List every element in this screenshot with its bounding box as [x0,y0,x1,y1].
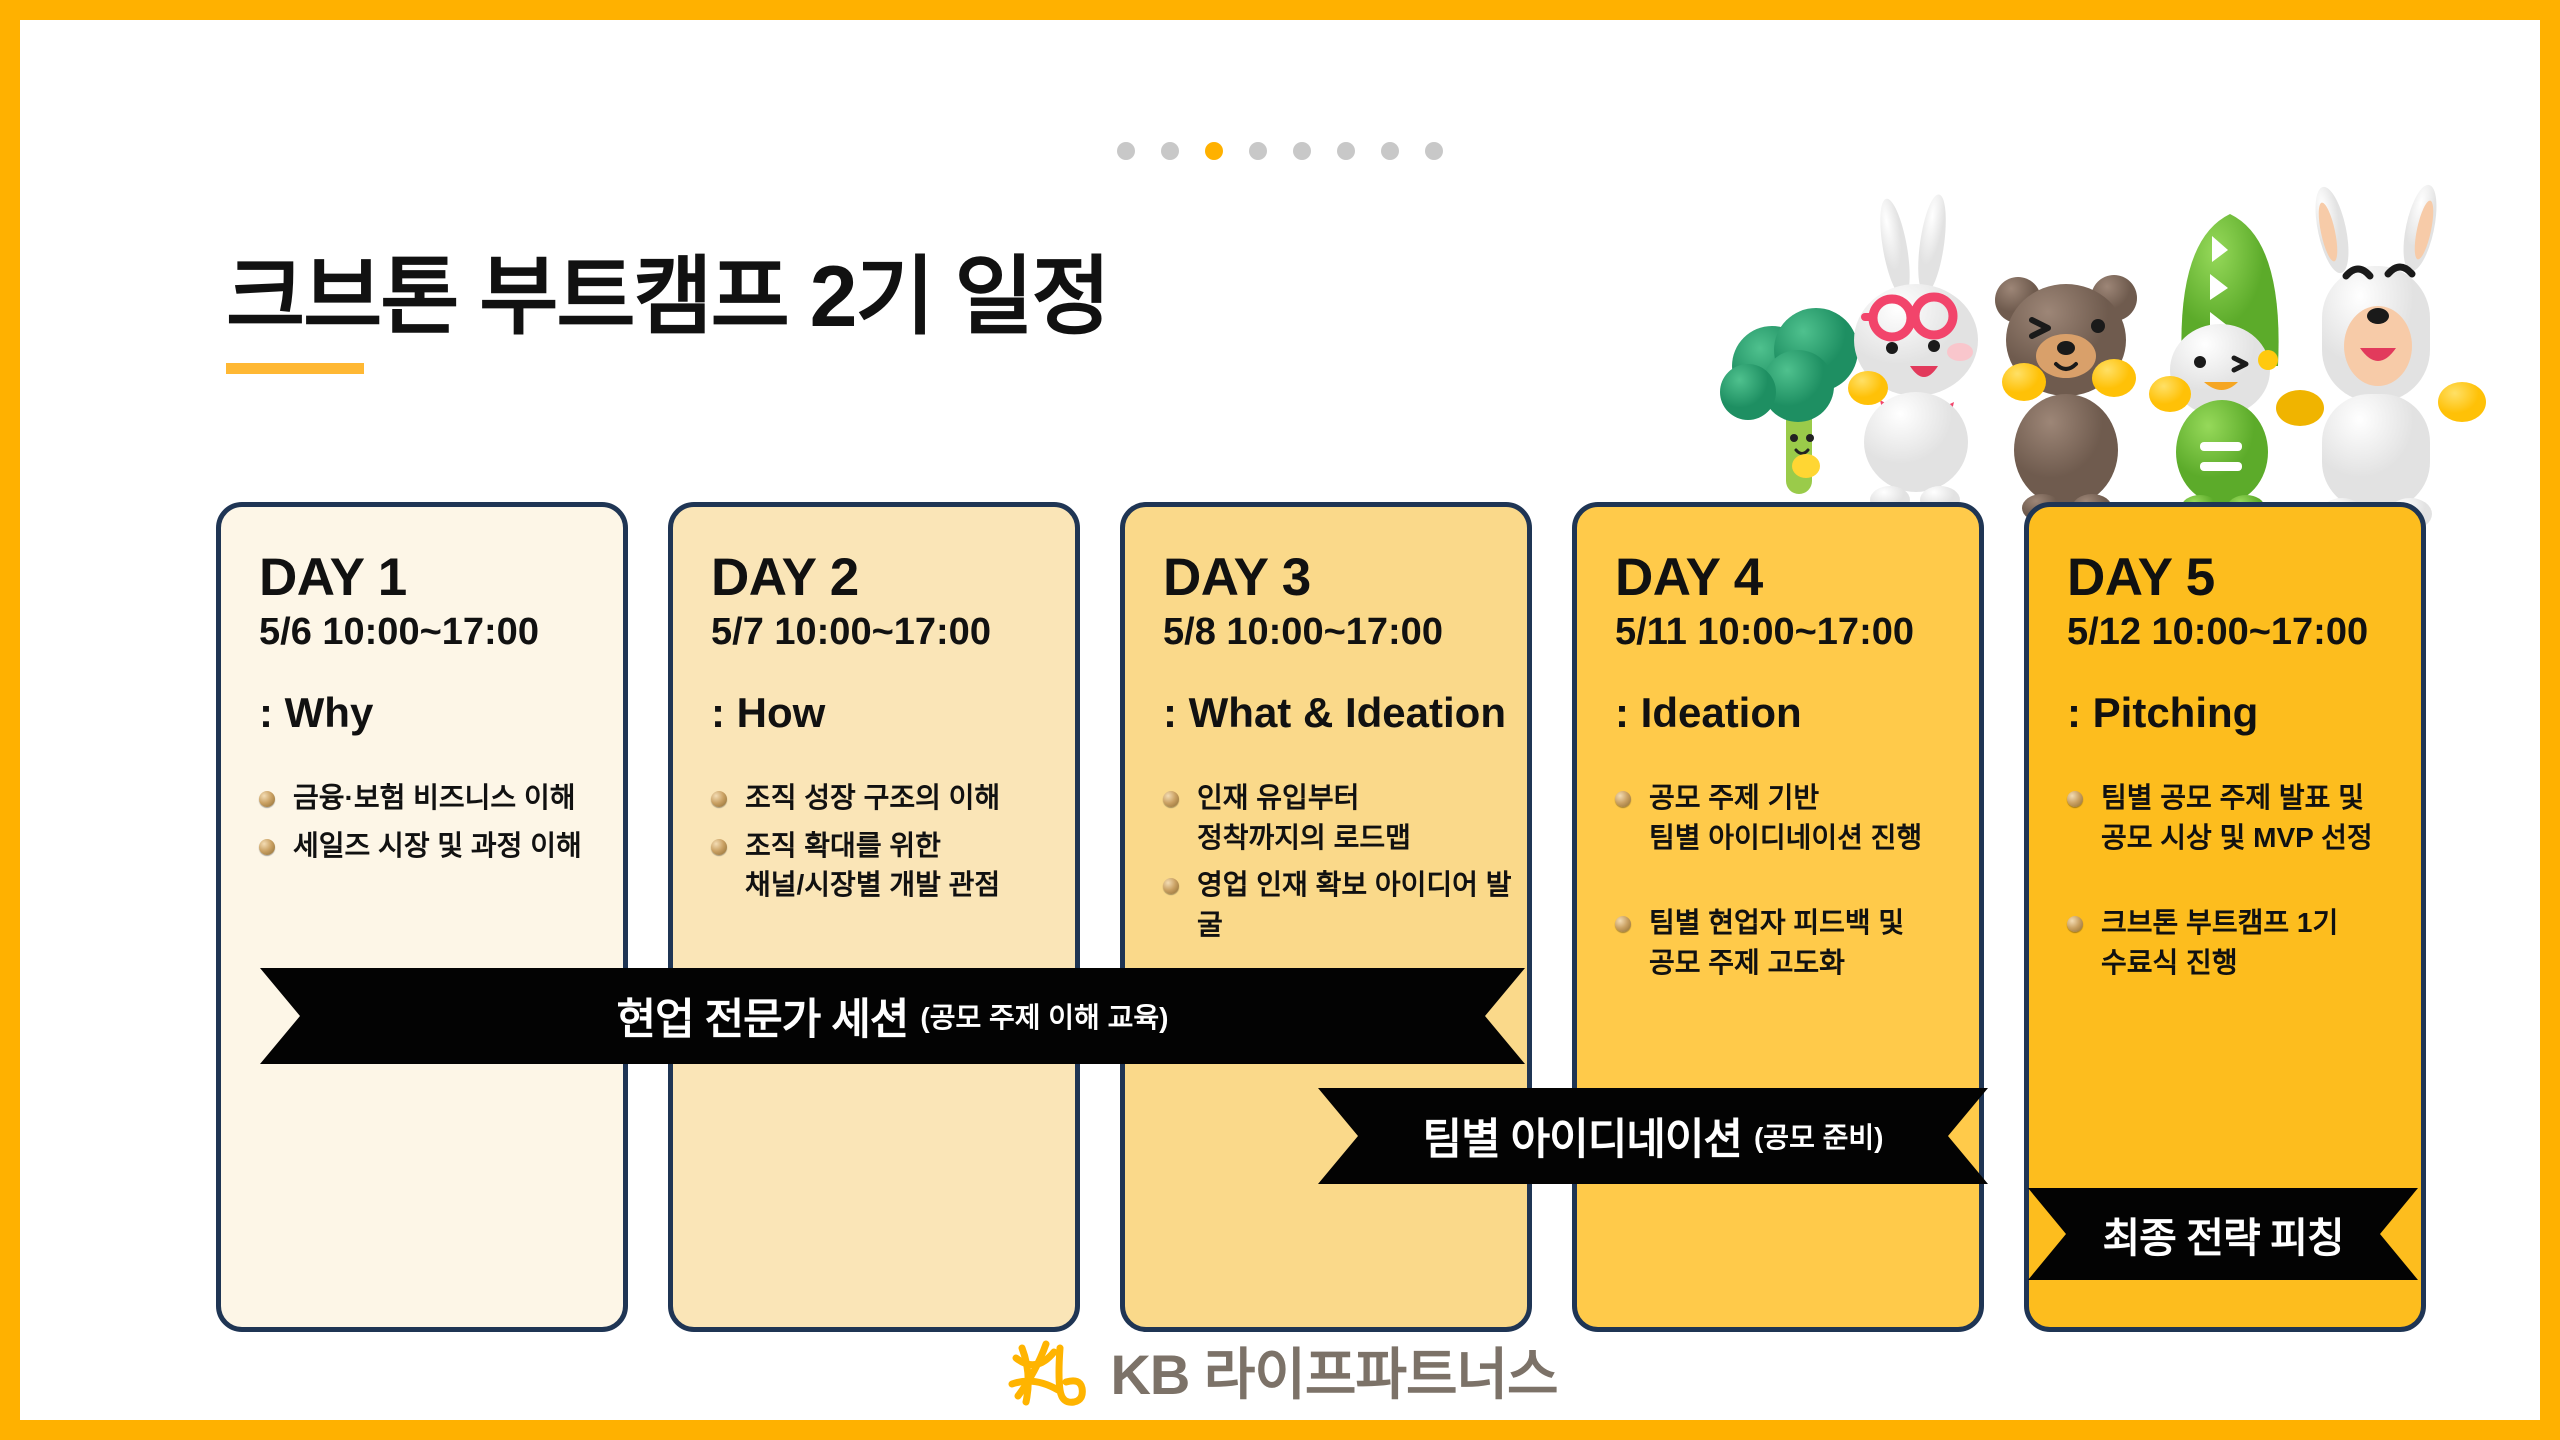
pagination-dot-1[interactable] [1117,142,1135,160]
list-item: 영업 인재 확보 아이디어 발굴 [1163,865,1527,945]
day-card-5-time: 5/12 10:00~17:00 [2067,612,2421,654]
day-card-5-bullets: 팀별 공모 주제 발표 및 공모 시상 및 MVP 선정 크브톤 부트캠프 1기… [2067,778,2421,983]
kb-wordmark: KB 라이프파트너스 [1110,1347,1557,1403]
list-item: 세일즈 시장 및 과정 이해 [259,826,623,866]
day-card-3-topic: : What & Ideation [1163,690,1527,736]
list-item: 크브톤 부트캠프 1기 수료식 진행 [2067,903,2421,983]
ribbon-banner-final-pitching: 최종 전략 피칭 [2028,1188,2418,1280]
kb-star-icon [1002,1338,1088,1412]
day-card-3[interactable]: DAY 3 5/8 10:00~17:00 : What & Ideation … [1120,502,1532,1332]
mascot-illustration [1720,170,2540,530]
pagination-dot-8[interactable] [1425,142,1443,160]
day-card-3-time: 5/8 10:00~17:00 [1163,612,1527,654]
day-card-5-day: DAY 5 [2067,551,2421,604]
ribbon-2-sub: (공모 준비) [1754,1116,1883,1156]
day-card-2-day: DAY 2 [711,551,1075,604]
day-card-3-bullets: 인재 유입부터 정착까지의 로드맵 영업 인재 확보 아이디어 발굴 [1163,778,1527,945]
title-block: 크브톤 부트캠프 2기 일정 [226,250,1109,374]
ribbon-banner-team-ideation: 팀별 아이디네이션 (공모 준비) [1318,1088,1988,1184]
day-card-2[interactable]: DAY 2 5/7 10:00~17:00 : How 조직 성장 구조의 이해… [668,502,1080,1332]
pagination-dot-2[interactable] [1161,142,1179,160]
slide-inner: 크브톤 부트캠프 2기 일정 [20,20,2540,1420]
pagination-dot-3-active[interactable] [1205,142,1223,160]
ribbon-banner-expert-session: 현업 전문가 세션 (공모 주제 이해 교육) [260,968,1525,1064]
slide-frame: 크브톤 부트캠프 2기 일정 [0,0,2560,1440]
list-item: 조직 확대를 위한 채널/시장별 개발 관점 [711,826,1075,906]
list-item: 조직 성장 구조의 이해 [711,778,1075,818]
bear-character [1995,275,2137,522]
ribbon-1-sub: (공모 주제 이해 교육) [920,996,1168,1036]
page-title: 크브톤 부트캠프 2기 일정 [226,250,1109,345]
day-card-1-time: 5/6 10:00~17:00 [259,612,623,654]
ribbon-2-main: 팀별 아이디네이션 [1423,1105,1742,1167]
broccoli-tree-character [1720,308,1858,494]
llama-character [2276,182,2486,530]
list-item: 금융·보험 비즈니스 이해 [259,778,623,818]
dino-character [2149,214,2279,521]
day-card-4-bullets: 공모 주제 기반 팀별 아이디네이션 진행 팀별 현업자 피드백 및 공모 주제… [1615,778,1979,983]
pagination-dot-7[interactable] [1381,142,1399,160]
day-card-5-topic: : Pitching [2067,690,2421,736]
pagination-dot-6[interactable] [1337,142,1355,160]
ribbon-3-main: 최종 전략 피칭 [2102,1204,2343,1264]
day-card-1[interactable]: DAY 1 5/6 10:00~17:00 : Why 금융·보험 비즈니스 이… [216,502,628,1332]
list-item: 팀별 공모 주제 발표 및 공모 시상 및 MVP 선정 [2067,778,2421,858]
pagination-dot-4[interactable] [1249,142,1267,160]
rabbit-character [1848,193,1978,514]
list-item: 팀별 현업자 피드백 및 공모 주제 고도화 [1615,903,1979,983]
pagination-dots[interactable] [20,142,2540,160]
day-card-4-day: DAY 4 [1615,551,1979,604]
day-card-2-time: 5/7 10:00~17:00 [711,612,1075,654]
day-card-1-day: DAY 1 [259,551,623,604]
day-card-4[interactable]: DAY 4 5/11 10:00~17:00 : Ideation 공모 주제 … [1572,502,1984,1332]
day-card-2-topic: : How [711,690,1075,736]
day-card-1-topic: : Why [259,690,623,736]
pagination-dot-5[interactable] [1293,142,1311,160]
day-card-4-topic: : Ideation [1615,690,1979,736]
day-card-2-bullets: 조직 성장 구조의 이해 조직 확대를 위한 채널/시장별 개발 관점 [711,778,1075,905]
day-card-3-day: DAY 3 [1163,551,1527,604]
day-card-1-bullets: 금융·보험 비즈니스 이해 세일즈 시장 및 과정 이해 [259,778,623,866]
ribbon-1-main: 현업 전문가 세션 [617,985,909,1047]
list-item: 인재 유입부터 정착까지의 로드맵 [1163,778,1527,858]
footer-logo: KB 라이프파트너스 [20,1338,2540,1412]
day-card-4-time: 5/11 10:00~17:00 [1615,612,1979,654]
list-item: 공모 주제 기반 팀별 아이디네이션 진행 [1615,778,1979,858]
title-accent-rule [226,363,364,374]
